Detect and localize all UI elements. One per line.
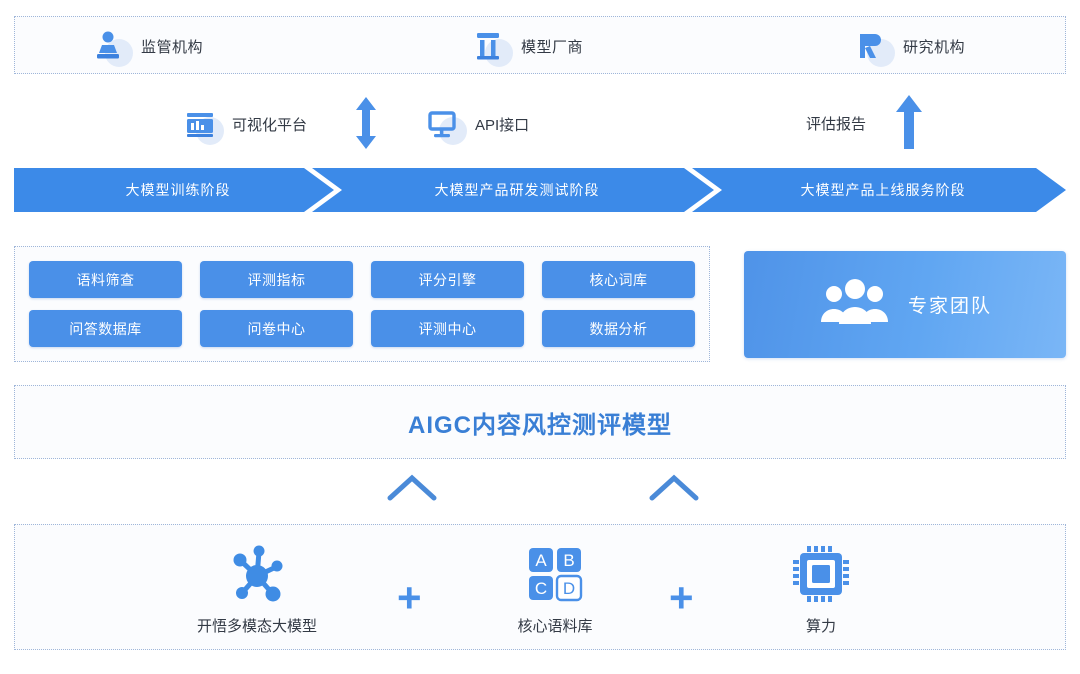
stakeholder-vendor: 模型厂商 <box>471 17 583 75</box>
channel-api: API接口 <box>425 104 529 144</box>
process-stage-training[interactable]: 大模型训练阶段 <box>14 168 334 212</box>
module-button-scoring-engine[interactable]: 评分引擎 <box>371 261 524 298</box>
channel-label: 评估报告 <box>806 113 866 134</box>
foundation-label: 算力 <box>806 615 836 636</box>
upward-arrow <box>891 93 927 154</box>
cpu-chip-icon <box>792 543 850 605</box>
connector-chevron-right <box>648 472 700 507</box>
people-group-icon <box>818 276 892 333</box>
regulator-icon <box>91 26 131 66</box>
foundation-label: 开悟多模态大模型 <box>197 615 317 636</box>
network-nodes-icon <box>226 543 288 605</box>
connector-chevron-left <box>386 472 438 507</box>
capability-modules-section: 语料筛查 评测指标 评分引擎 核心词库 问答数据库 问卷中心 评测中心 数据分析 <box>14 246 710 362</box>
foundation-section: 开悟多模态大模型 + A B C D 核心语料库 + <box>14 524 1066 650</box>
foundation-item-core-corpus: A B C D 核心语料库 <box>475 543 635 636</box>
plus-sign-right: + <box>669 577 694 619</box>
model-title-section: AIGC内容风控测评模型 <box>14 385 1066 459</box>
module-button-qa-database[interactable]: 问答数据库 <box>29 310 182 347</box>
model-title: AIGC内容风控测评模型 <box>15 386 1065 458</box>
foundation-item-compute: 算力 <box>741 543 901 636</box>
stakeholder-research: 研究机构 <box>853 17 965 75</box>
channel-assessment-report: 评估报告 <box>806 113 866 134</box>
channel-label: 可视化平台 <box>232 114 307 135</box>
svg-text:B: B <box>563 551 574 570</box>
module-button-corpus-screening[interactable]: 语料筛查 <box>29 261 182 298</box>
plus-sign-left: + <box>397 577 422 619</box>
expert-team-card[interactable]: 专家团队 <box>744 251 1066 358</box>
channel-visualization-platform: 可视化平台 <box>182 104 307 144</box>
module-button-evaluation-metrics[interactable]: 评测指标 <box>200 261 353 298</box>
research-icon <box>853 26 893 66</box>
foundation-label: 核心语料库 <box>517 615 592 636</box>
dashboard-icon <box>182 104 222 144</box>
process-stage-label: 大模型产品上线服务阶段 <box>793 180 966 200</box>
stakeholder-label: 监管机构 <box>141 36 203 57</box>
diagram-canvas: 监管机构 模型厂商 <box>0 0 1080 674</box>
module-button-evaluation-center[interactable]: 评测中心 <box>371 310 524 347</box>
process-stage-label: 大模型训练阶段 <box>118 180 231 200</box>
process-stage-label: 大模型产品研发测试阶段 <box>427 180 600 200</box>
stakeholders-section: 监管机构 模型厂商 <box>14 16 1066 74</box>
abcd-tiles-icon: A B C D <box>526 543 584 605</box>
module-button-core-lexicon[interactable]: 核心词库 <box>542 261 695 298</box>
process-stage-band: 大模型训练阶段 大模型产品研发测试阶段 大模型产品上线服务阶段 <box>14 168 1066 220</box>
module-button-questionnaire-center[interactable]: 问卷中心 <box>200 310 353 347</box>
vendor-icon <box>471 26 511 66</box>
stakeholder-regulator: 监管机构 <box>91 17 203 75</box>
process-stage-development[interactable]: 大模型产品研发测试阶段 <box>312 168 714 212</box>
svg-text:C: C <box>535 579 547 598</box>
stakeholder-label: 研究机构 <box>903 36 965 57</box>
module-grid: 语料筛查 评测指标 评分引擎 核心词库 问答数据库 问卷中心 评测中心 数据分析 <box>29 261 695 347</box>
module-button-data-analysis[interactable]: 数据分析 <box>542 310 695 347</box>
expert-team-label: 专家团队 <box>908 291 992 318</box>
svg-text:A: A <box>535 551 547 570</box>
api-monitor-icon <box>425 104 465 144</box>
svg-text:D: D <box>563 579 575 598</box>
channel-label: API接口 <box>475 114 529 135</box>
process-stage-service[interactable]: 大模型产品上线服务阶段 <box>692 168 1066 212</box>
stakeholder-label: 模型厂商 <box>521 36 583 57</box>
foundation-item-multimodal-model: 开悟多模态大模型 <box>177 543 337 636</box>
bidirectional-arrow <box>349 96 383 155</box>
